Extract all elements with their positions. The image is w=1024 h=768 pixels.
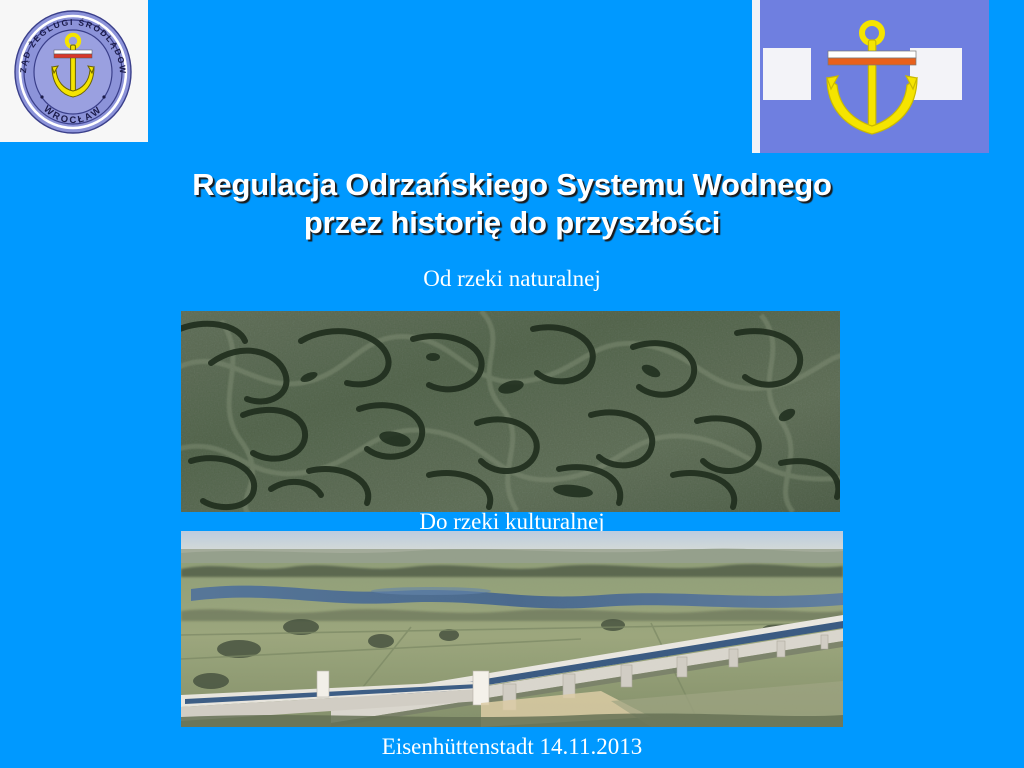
logo-container: URZĄD ŻEGLUGI ŚRÓDLĄDOWEJ WROCŁAW: [0, 0, 148, 142]
flag-container: [752, 0, 986, 153]
caption-location-date: Eisenhüttenstadt 14.11.2013: [0, 733, 1024, 761]
inland-navigation-flag-icon: [755, 0, 989, 153]
cultural-river-aerial-image: [181, 531, 843, 727]
caption-natural-river: Od rzeki naturalnej: [0, 265, 1024, 293]
natural-river-aerial-image: [181, 311, 840, 512]
presentation-slide: URZĄD ŻEGLUGI ŚRÓDLĄDOWEJ WROCŁAW: [0, 0, 1024, 768]
page-title: Regulacja Odrzańskiego Systemu Wodnego p…: [60, 166, 964, 242]
urzad-zeglugi-srodladowej-seal-icon: URZĄD ŻEGLUGI ŚRÓDLĄDOWEJ WROCŁAW: [6, 5, 140, 137]
